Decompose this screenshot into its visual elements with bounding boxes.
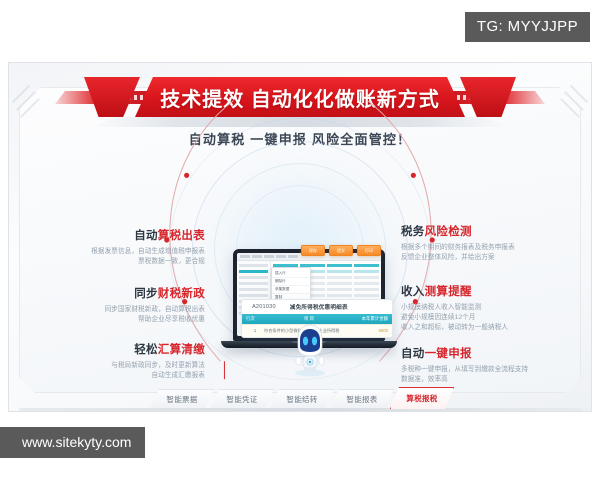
poster-title: 技术提效 自动化化做账新方式 [160,83,440,112]
feature-right-2: 收入测算提醒 小规模纳税人收入智能监测 避免小规模因连续12个月 收入之和超标，… [401,283,553,334]
action-chip-save[interactable]: 保存 [301,245,325,256]
context-menu-item-1[interactable]: 插入行 [272,270,310,278]
tab-smart-bills[interactable]: 智能票据 [150,389,214,409]
feature-right-1-desc: 根据多个期间的财务报表及税务申报表 反馈企业整体风险，并给出方案 [401,243,553,263]
context-menu-item-3[interactable]: 采集数据 [272,286,310,294]
feature-right-3-title: 自动一键申报 [401,345,553,361]
tab-smart-vouchers[interactable]: 智能凭证 [210,389,274,409]
tax-form-col-amount: 本年累计金额 [354,316,388,322]
feature-right-1-title-plain: 税务 [401,226,425,238]
feature-right-1-title: 税务风险检测 [401,223,553,239]
feature-right-2-desc-line-2: 避免小规模因连续12个月 [401,313,553,323]
tax-form-row-no: 1 [246,328,264,334]
feature-right-2-title: 收入测算提醒 [401,283,553,299]
feature-right-1-desc-line-2: 反馈企业整体风险，并给出方案 [401,253,553,263]
feature-right-1-title-highlight: 风险检测 [425,226,472,238]
action-chip-group: 保存 提交 打印 [301,245,381,256]
bottom-tab-bar: 智能票据 智能凭证 智能结转 智能报表 算税报税 [9,383,591,409]
feature-right-2-desc: 小规模纳税人收入智能监测 避免小规模因连续12个月 收入之和超标，被动转为一般纳… [401,303,553,334]
feature-right-2-desc-line-1: 小规模纳税人收入智能监测 [401,303,553,313]
feature-left-1-desc-line-2: 票税数据一致，更合规 [53,257,205,267]
tg-badge: TG: MYYJJPP [465,12,590,42]
feature-left-1-desc: 根据发票信息，自动生成增值税申报表 票税数据一致，更合规 [53,247,205,267]
tax-form-card-header: A201030 减免所得税优惠明细表 [242,300,392,314]
poster-page: TG: MYYJJPP 技术提效 自动化化做账新方式 自动算税 一键申报 风险全… [0,0,600,480]
feature-left-3-desc-line-1: 与税局新政同步，及时更新算法 [53,361,205,371]
corner-hatch-top-left-icon [19,87,59,127]
tab-smart-carryover[interactable]: 智能结转 [270,389,334,409]
feature-left-1-title-plain: 自动 [134,230,158,242]
tax-form-col-no: 行次 [246,316,264,322]
feature-right-3: 自动一键申报 多税种一键申报，从填写到缴款全流程支持 数据准，效率高 [401,345,553,385]
feature-right-1-desc-line-1: 根据多个期间的财务报表及税务申报表 [401,243,553,253]
action-chip-submit[interactable]: 提交 [329,245,353,256]
context-menu-item-2[interactable]: 删除行 [272,278,310,286]
feature-right-3-title-highlight: 一键申报 [425,348,472,360]
feature-left-2-desc-line-2: 帮助企业尽享税收优惠 [53,315,205,325]
tax-form-row-amount: 6800 [354,328,388,334]
feature-left-1-title-highlight: 算税出表 [158,230,205,242]
action-chip-print[interactable]: 打印 [357,245,381,256]
feature-left-2-title: 同步财税新政 [53,285,205,301]
feature-right-1: 税务风险检测 根据多个期间的财务报表及税务申报表 反馈企业整体风险，并给出方案 [401,223,553,263]
feature-left-3-title: 轻松汇算清缴 [53,341,205,357]
feature-left-3-title-plain: 轻松 [134,344,158,356]
feature-left-3: 轻松汇算清缴 与税局新政同步，及时更新算法 自动生成汇缴报表 [53,341,205,381]
feature-left-1-title: 自动算税出表 [53,227,205,243]
feature-left-3-desc: 与税局新政同步，及时更新算法 自动生成汇缴报表 [53,361,205,381]
tab-bar-base [19,408,581,411]
feature-left-2-desc-line-1: 同步国家财税新政，自动算税出表 [53,305,205,315]
title-ribbon: 技术提效 自动化化做账新方式 [135,77,465,117]
feature-right-2-title-highlight: 测算提醒 [425,286,472,298]
feature-left-3-desc-line-2: 自动生成汇缴报表 [53,371,205,381]
robot-mascot-icon [292,321,328,377]
tab-tax-filing[interactable]: 算税报税 [390,387,454,409]
feature-right-2-title-plain: 收入 [401,286,425,298]
feature-left-2-title-highlight: 财税新政 [158,288,205,300]
feature-left-2: 同步财税新政 同步国家财税新政，自动算税出表 帮助企业尽享税收优惠 [53,285,205,325]
feature-right-3-title-plain: 自动 [401,348,425,360]
feature-left-1-desc-line-1: 根据发票信息，自动生成增值税申报表 [53,247,205,257]
corner-hatch-top-right-icon [541,87,581,127]
feature-left-1: 自动算税出表 根据发票信息，自动生成增值税申报表 票税数据一致，更合规 [53,227,205,267]
feature-left-2-desc: 同步国家财税新政，自动算税出表 帮助企业尽享税收优惠 [53,305,205,325]
feature-left-2-title-plain: 同步 [134,288,158,300]
feature-right-2-desc-line-3: 收入之和超标，被动转为一般纳税人 [401,323,553,333]
tab-smart-reports[interactable]: 智能报表 [330,389,394,409]
poster-frame: 技术提效 自动化化做账新方式 自动算税 一键申报 风险全面管控！ 自动算税出表 [8,62,592,412]
feature-left-3-title-highlight: 汇算清缴 [158,344,205,356]
feature-right-3-desc-line-1: 多税种一键申报，从填写到缴款全流程支持 [401,365,553,375]
tax-form-name: 减免所得税优惠明细表 [290,303,348,311]
tax-form-code: A201030 [252,304,276,310]
site-watermark: www.sitekyty.com [0,427,145,458]
